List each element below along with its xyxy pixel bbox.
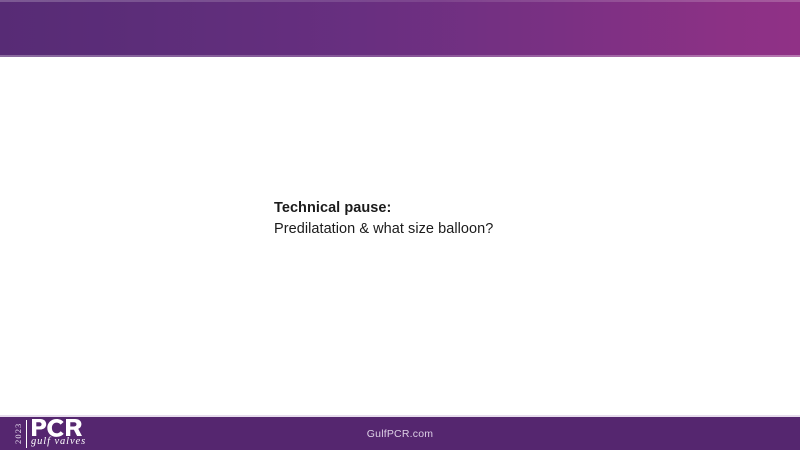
header-top-highlight [0,0,800,2]
footer-url-text: GulfPCR.com [0,417,800,450]
slide-heading: Technical pause: [274,198,734,219]
slide-body-text: Technical pause: Predilatation & what si… [274,198,734,240]
presentation-slide: Technical pause: Predilatation & what si… [0,0,800,450]
header-bottom-highlight [0,55,800,57]
slide-header-band [0,0,800,57]
slide-subheading: Predilatation & what size balloon? [274,219,734,240]
